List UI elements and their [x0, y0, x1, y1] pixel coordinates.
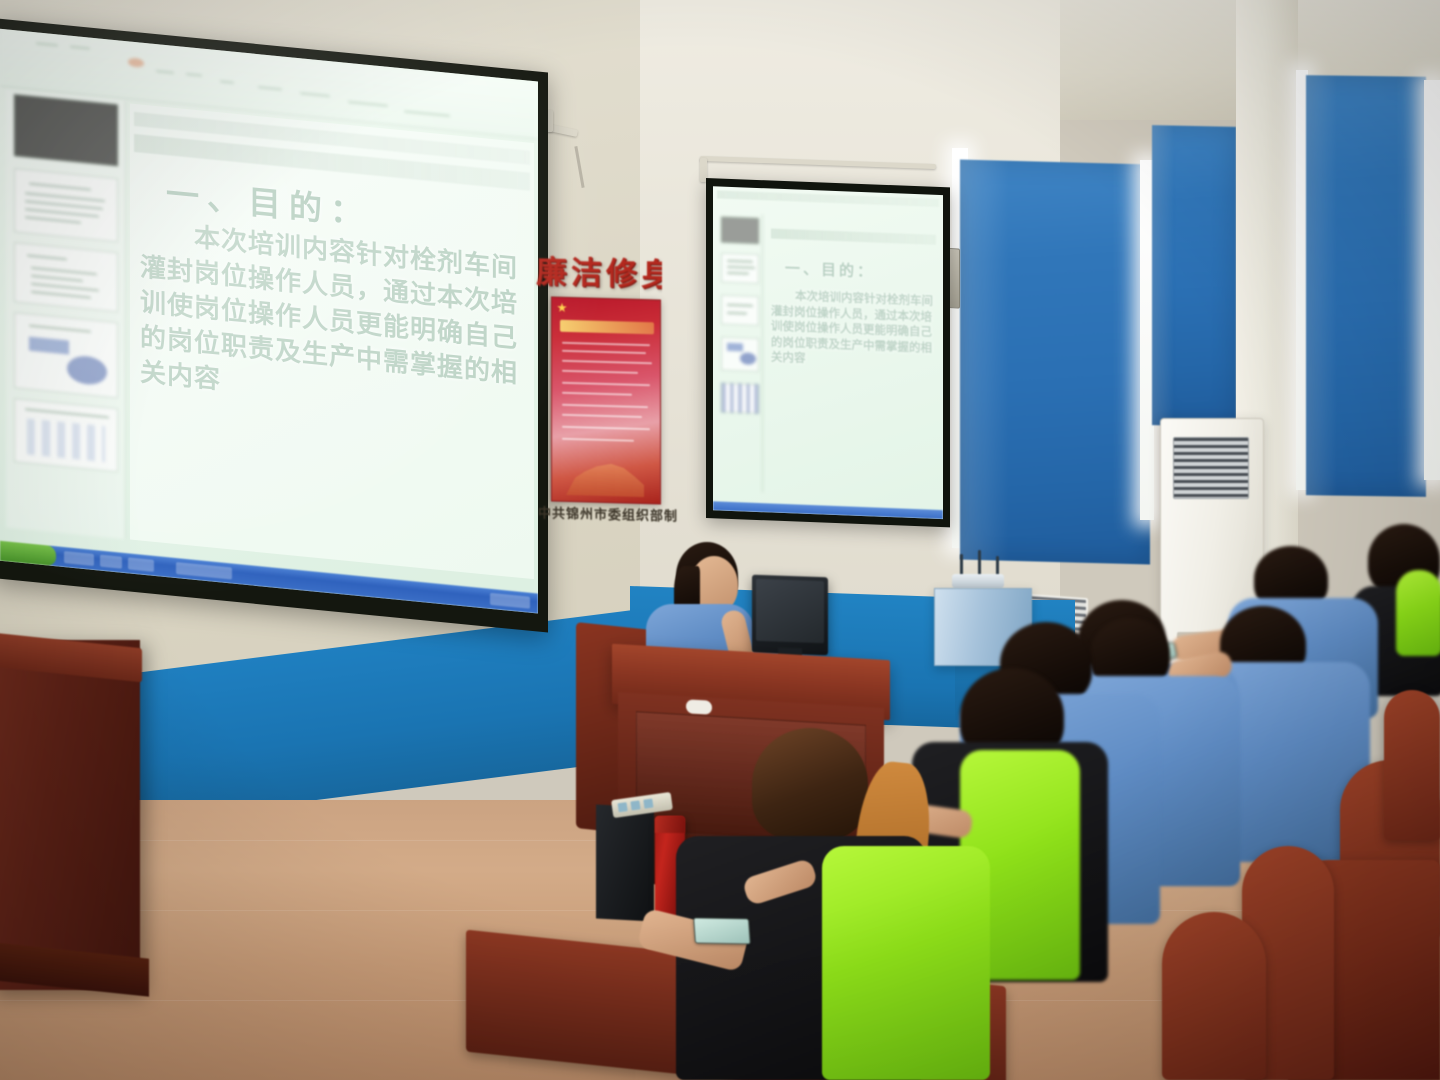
slide-thumbnail[interactable] [14, 312, 118, 398]
slogan-char-4: 身 [641, 249, 662, 295]
taskbar-clock[interactable] [490, 593, 530, 609]
slide-thumbnail[interactable] [721, 337, 759, 372]
s2-windows-taskbar [713, 501, 943, 519]
active-slide: 一、目的： 本次培训内容针对栓剂车间灌封岗位操作人员，通过本次培训使岗位操作人员… [130, 104, 534, 580]
ribbon-tab [404, 110, 450, 117]
poster-text-line [562, 350, 646, 354]
window-light-far-right [1424, 80, 1440, 480]
slide-body-text: 本次培训内容针对栓剂车间灌封岗位操作人员，通过本次培训使岗位操作人员更能明确自己… [140, 215, 528, 428]
thermos-cap [655, 816, 685, 833]
projection-screen-main-surface: 一、目的： 本次培训内容针对栓剂车间灌封岗位操作人员，通过本次培训使岗位操作人员… [0, 29, 538, 614]
audience-vest [1396, 570, 1440, 656]
window-blind-2 [1152, 125, 1236, 427]
slide-thumbnail[interactable] [721, 383, 759, 414]
ribbon-accent-dot [128, 57, 144, 68]
taskbar-item[interactable] [128, 557, 154, 572]
window-blind-1 [960, 160, 1150, 565]
star-emblem-icon [557, 303, 567, 313]
taskbar-item[interactable] [176, 562, 232, 579]
ribbon-tab [258, 86, 282, 90]
poster-text-line [562, 426, 650, 430]
slide-thumbnail[interactable] [14, 398, 118, 472]
ribbon-tab [36, 42, 58, 46]
slogan-char-3: 修 [606, 248, 637, 294]
s2-slide-body-text: 本次培训内容针对栓剂车间灌封岗位操作人员，通过本次培训使岗位操作人员更能明确自己… [771, 288, 936, 372]
slide-thumbnail[interactable] [721, 295, 759, 326]
projection-screen-main: 一、目的： 本次培训内容针对栓剂车间灌封岗位操作人员，通过本次培训使岗位操作人员… [0, 18, 548, 633]
poster-text-line [562, 370, 638, 374]
s2-slide-heading: 一、目的： [785, 257, 875, 281]
bench-backrest [1384, 690, 1440, 840]
presenter-monitor [752, 575, 828, 656]
pc-tower [596, 804, 654, 921]
slide-thumbnail[interactable] [14, 242, 118, 312]
start-button-icon[interactable] [0, 541, 56, 566]
s2-title-band [771, 228, 936, 244]
power-socket [618, 802, 628, 812]
ribbon-tab [348, 101, 388, 107]
poster-text-line [562, 414, 642, 418]
bench-backrest [1162, 912, 1266, 1080]
audience-hair [752, 728, 868, 840]
power-socket [630, 800, 640, 810]
s2-top-band [717, 190, 939, 207]
mouse[interactable] [686, 699, 712, 714]
slide-thumbnail[interactable] [14, 94, 118, 166]
wall-slogan-characters: 廉 洁 修 身 [536, 244, 662, 295]
projection-screen-secondary: 一、目的： 本次培训内容针对栓剂车间灌封岗位操作人员，通过本次培训使岗位操作人员… [706, 178, 950, 527]
poster-text-line [562, 438, 634, 442]
taskbar-item[interactable] [64, 551, 94, 566]
poster-text-line [562, 360, 652, 365]
blind-sheen [960, 160, 1009, 561]
ribbon-tab [186, 73, 202, 77]
wifi-router [952, 574, 1004, 588]
ribbon-tab [70, 46, 90, 50]
window-blind-3 [1306, 75, 1426, 497]
poster-caption: 中共锦州市委组织部制 [538, 502, 678, 524]
monitor-screen [756, 579, 824, 643]
blind-sheen [1152, 125, 1174, 425]
ribbon-tab [300, 92, 330, 97]
router-antenna [978, 550, 981, 576]
poster-text-line [562, 342, 650, 346]
poster-text-line [562, 404, 648, 408]
ribbon-tab [156, 70, 174, 74]
projection-screen-secondary-surface: 一、目的： 本次培训内容针对栓剂车间灌封岗位操作人员，通过本次培训使岗位操作人员… [713, 186, 943, 519]
wall-poster [551, 296, 661, 504]
ac-grille-icon [1173, 437, 1249, 499]
poster-text-line [562, 392, 632, 396]
taskbar-item[interactable] [100, 555, 122, 569]
photo-scene: 一、目的： 本次培训内容针对栓剂车间灌封岗位操作人员，通过本次培训使岗位操作人员… [0, 0, 1440, 1080]
blind-sheen [1306, 75, 1337, 495]
poster-landmark-graphic [566, 449, 644, 497]
slide-thumbnail-panel[interactable] [6, 89, 126, 539]
slide-thumbnail[interactable] [14, 168, 118, 242]
audience-vest [822, 846, 990, 1080]
slogan-char-2: 洁 [571, 247, 602, 293]
slide-thumbnail[interactable] [721, 217, 759, 244]
foreground-phone[interactable] [693, 917, 751, 944]
poster-text-line [562, 382, 650, 386]
slide-thumbnail[interactable] [721, 253, 759, 284]
s2-active-slide: 一、目的： 本次培训内容针对栓剂车间灌封岗位操作人员，通过本次培训使岗位操作人员… [767, 214, 940, 499]
power-socket [643, 799, 653, 809]
podium [0, 640, 140, 990]
poster-title-band [560, 320, 654, 335]
ribbon-tab [220, 80, 234, 83]
slogan-char-1: 廉 [536, 246, 567, 292]
s2-thumbnail-panel[interactable] [717, 212, 763, 492]
